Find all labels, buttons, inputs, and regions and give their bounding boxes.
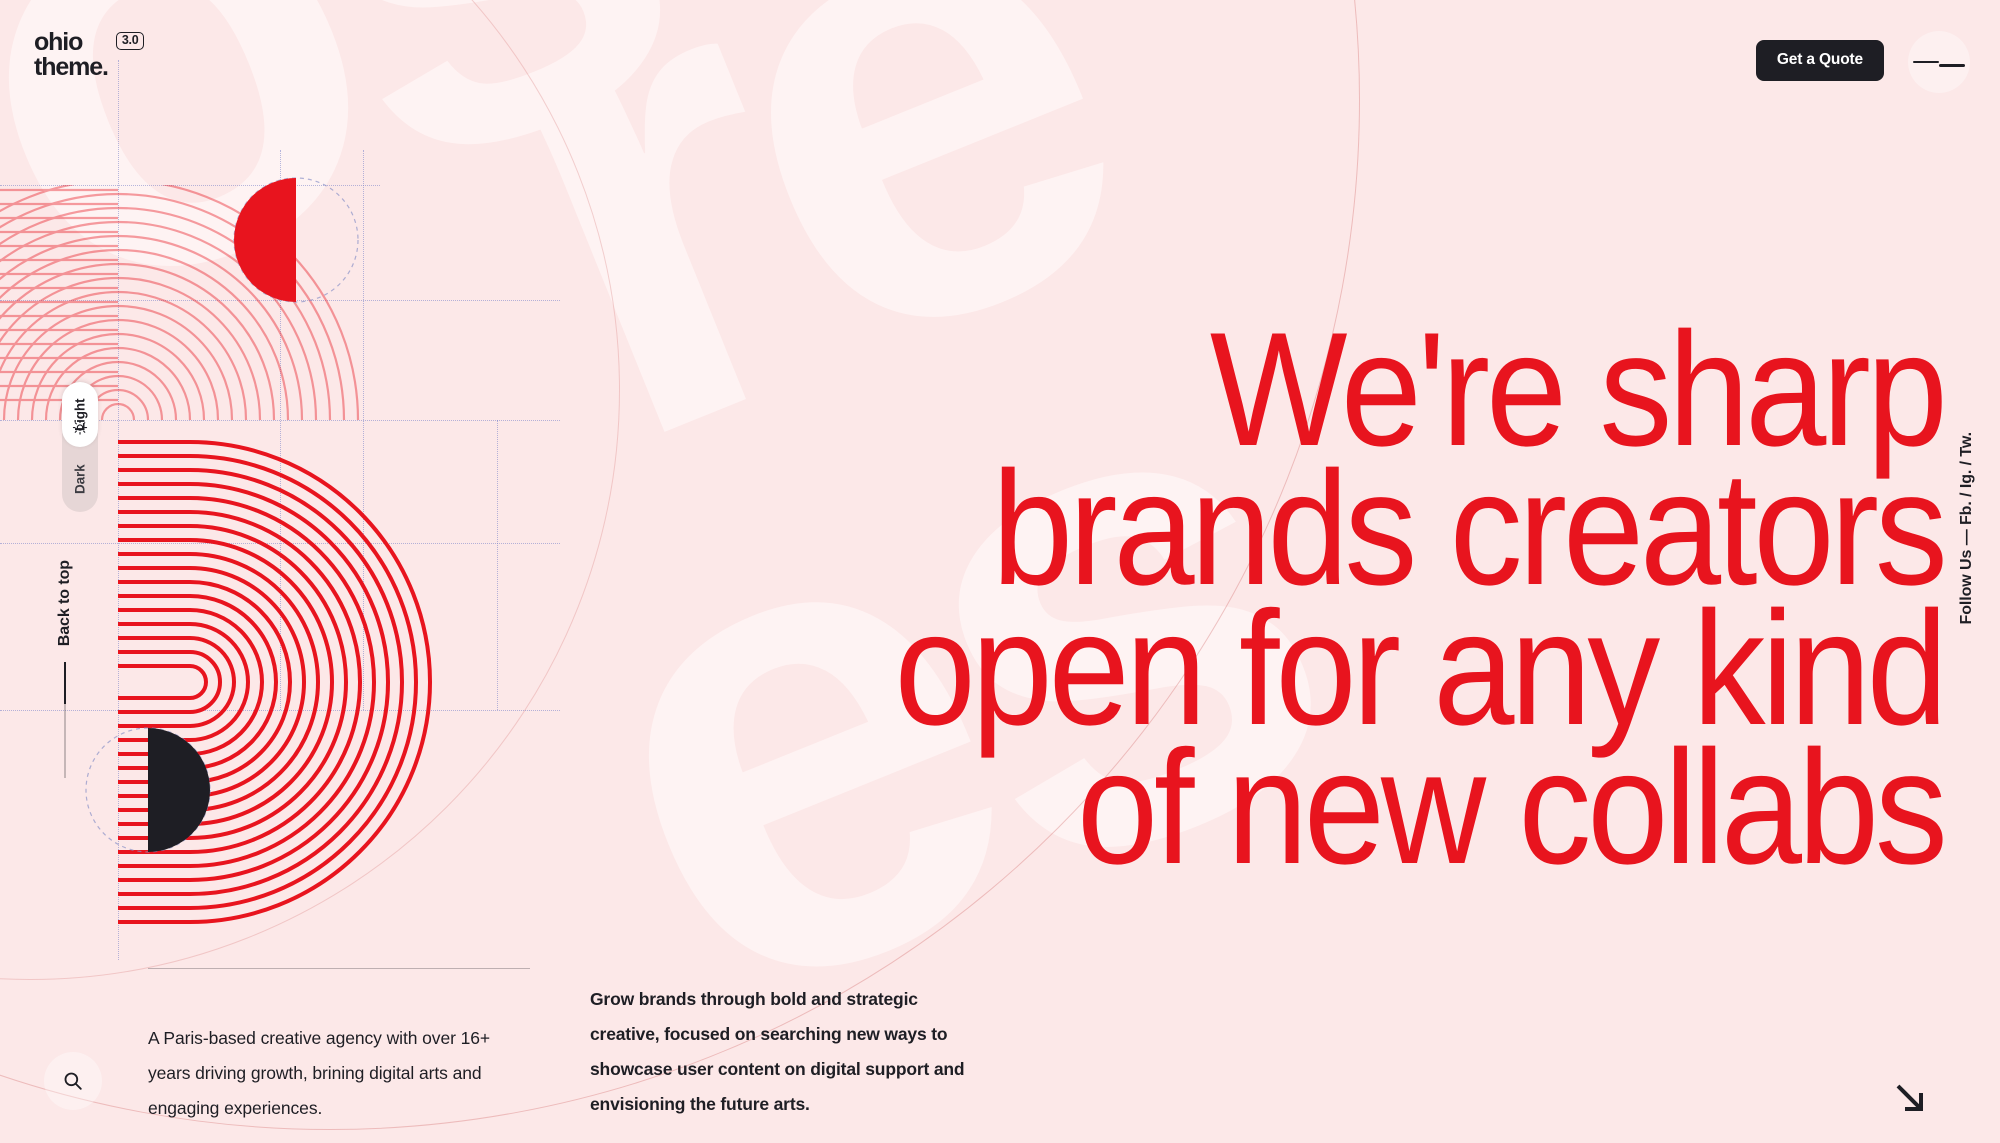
hero-copy: A Paris-based creative agency with over … [148, 968, 972, 1126]
scroll-progress-line [64, 662, 66, 778]
arrow-down-right-icon [1894, 1082, 1928, 1116]
copy-column-right: Grow brands through bold and strategic c… [590, 968, 972, 1126]
sun-icon [73, 420, 88, 435]
headline-line-4: of new collabs [895, 738, 1944, 877]
hero-stage: os re es [0, 0, 2000, 1143]
hero-headline: We're sharp brands creators open for any… [895, 320, 1944, 877]
version-badge: 3.0 [116, 32, 145, 50]
logo[interactable]: ohio theme. 3.0 [34, 30, 144, 79]
copy-divider [148, 968, 530, 969]
logo-line-1: ohio [34, 28, 82, 56]
decorative-artwork [0, 0, 680, 960]
follow-us-links[interactable]: Follow Us — Fb. / Ig. / Tw. [1958, 432, 1976, 625]
hamburger-icon[interactable] [1908, 31, 1970, 93]
copy-right-text: Grow brands through bold and strategic c… [590, 968, 972, 1122]
theme-toggle-dark[interactable]: Dark [62, 447, 98, 512]
hamburger-bar-1 [1913, 61, 1939, 63]
get-a-quote-button[interactable]: Get a Quote [1756, 40, 1884, 81]
back-to-top[interactable]: Back to top [56, 560, 74, 778]
theme-toggle-light[interactable]: Light [62, 382, 98, 447]
hamburger-bar-2 [1939, 64, 1965, 66]
search-icon [62, 1070, 84, 1092]
copy-left-text: A Paris-based creative agency with over … [148, 1021, 530, 1126]
scroll-down-button[interactable] [1894, 1082, 1928, 1121]
site-header: ohio theme. 3.0 Get a Quote [0, 0, 2000, 112]
search-button[interactable] [44, 1052, 102, 1110]
copy-column-left: A Paris-based creative agency with over … [148, 968, 530, 1126]
back-to-top-label: Back to top [56, 560, 74, 646]
logo-wordmark: ohio theme. [34, 30, 108, 79]
theme-toggle[interactable]: Light Dark [62, 382, 98, 512]
logo-line-2: theme. [34, 55, 108, 80]
theme-toggle-dark-label: Dark [73, 465, 88, 494]
